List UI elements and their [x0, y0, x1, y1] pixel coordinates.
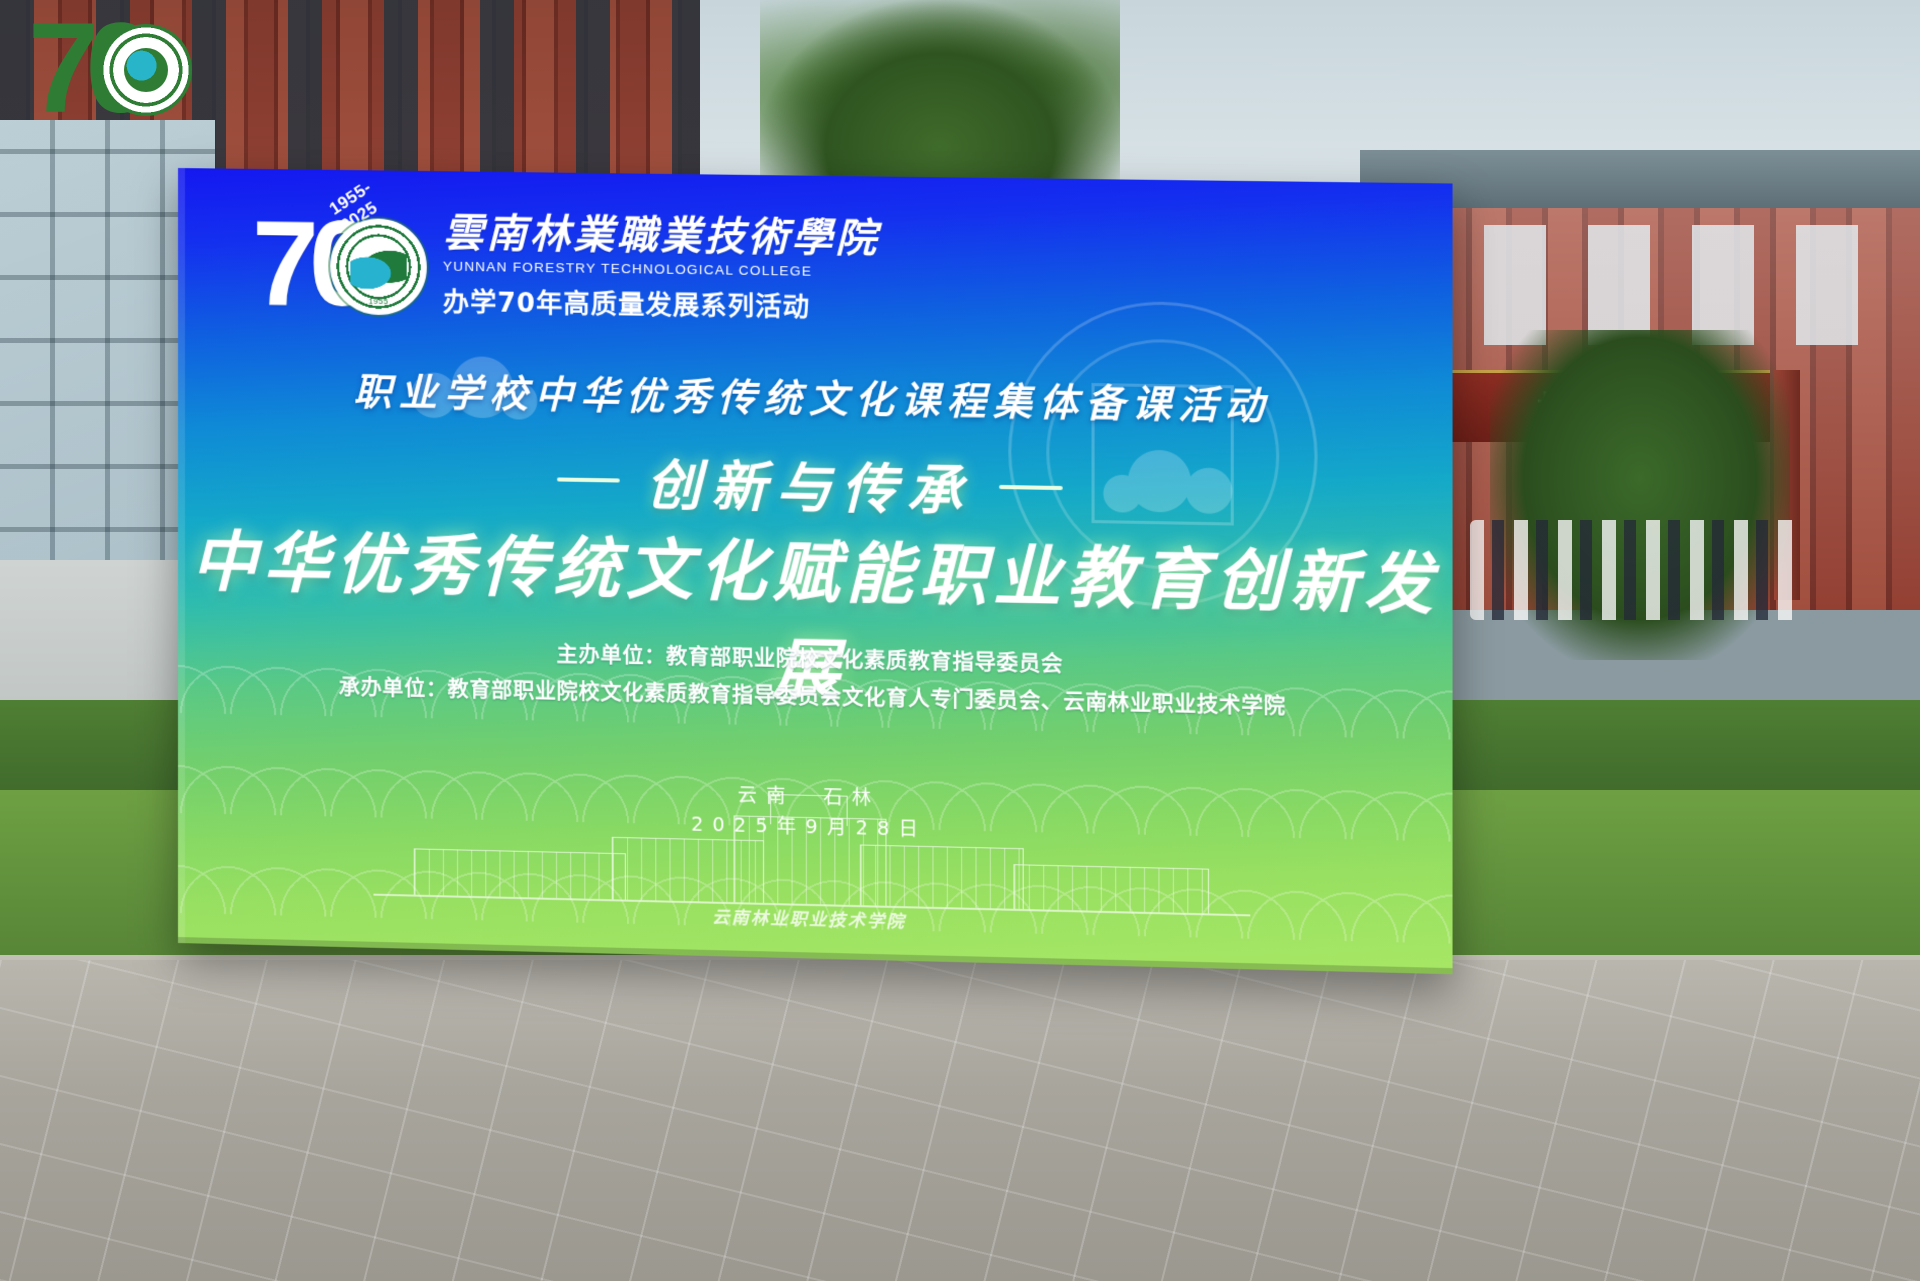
corner-anniversary-logo: 70	[28, 8, 218, 126]
seal-founding-year: 1955	[369, 297, 389, 306]
institution-name-cn: 雲南林業職業技術學院	[443, 211, 879, 261]
theme-dash-left-icon	[557, 477, 620, 482]
banner-header-cluster: 70 1955-2025 1955 雲南林業職業技術學院 YUNNAN FORE…	[252, 197, 879, 326]
campus-building-5	[1013, 864, 1209, 913]
campus-tower	[770, 794, 847, 826]
campaign-line: 办学70年高质量发展系列活动	[443, 281, 879, 324]
seal-bird-emblem-icon	[350, 246, 406, 291]
event-backdrop-banner: 70 1955-2025 1955 雲南林業職業技術學院 YUNNAN FORE…	[178, 168, 1453, 974]
anniversary-70-logo: 70 1955-2025 1955	[252, 197, 429, 320]
photo-scene: 报告厅 70 70 1955-2025 1955 雲南林業職業技術學院 Y	[0, 0, 1920, 1281]
college-seal-icon: 1955	[330, 218, 427, 316]
theme-text: 创新与传承	[646, 441, 972, 526]
campus-building-4	[860, 844, 1024, 909]
institution-name-en: YUNNAN FORESTRY TECHNOLOGICAL COLLEGE	[443, 258, 879, 279]
campus-line-art-illustration: 云南林业职业技术学院	[414, 790, 1209, 940]
paved-plaza	[0, 960, 1920, 1281]
banner-left-edge	[178, 168, 185, 943]
theme-dash-right-icon	[999, 484, 1063, 489]
right-building-windows	[1380, 225, 1900, 345]
campus-building-1	[414, 848, 626, 899]
banner-header-text: 雲南林業職業技術學院 YUNNAN FORESTRY TECHNOLOGICAL…	[443, 201, 879, 325]
corner-college-seal-icon	[100, 24, 192, 116]
crowd-of-people	[1470, 520, 1800, 620]
